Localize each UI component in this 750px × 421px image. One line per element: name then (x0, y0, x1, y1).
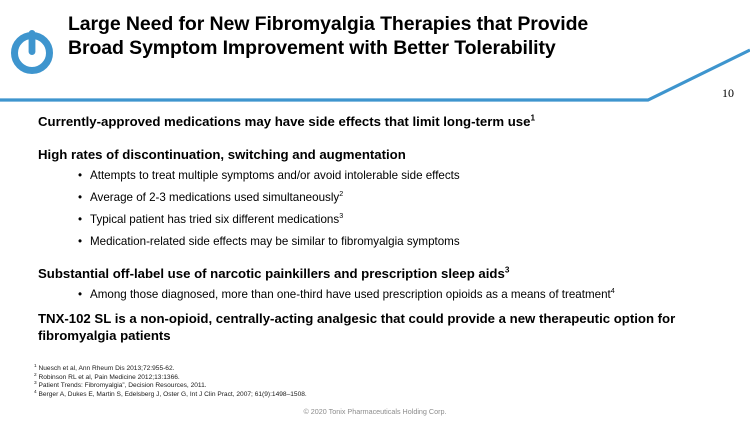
body-heading-3-footnote-marker: 3 (505, 266, 510, 275)
footnote-list: 1 Nuesch et al, Ann Rheum Dis 2013;72:95… (34, 365, 307, 399)
bullet-point-icon: • (78, 288, 82, 302)
body-heading-3: Substantial off-label use of narcotic pa… (38, 266, 750, 282)
bullet-point-icon: • (78, 235, 82, 249)
bullet-footnote-marker: 3 (339, 211, 343, 220)
bullet-point-icon: • (78, 191, 82, 205)
bullet-list-item: •Average of 2-3 medications used simulta… (78, 191, 690, 205)
body-heading-2: High rates of discontinuation, switching… (38, 147, 750, 163)
bullet-list-item: •Typical patient has tried six different… (78, 213, 690, 227)
bullet-list-primary: •Attempts to treat multiple symptoms and… (0, 169, 750, 249)
footnote-text: Robinson RL et al, Pain Medicine 2012;13… (37, 374, 180, 381)
page-number: 10 (722, 86, 734, 101)
bullet-text: Typical patient has tried six different … (90, 213, 339, 226)
bullet-list-item: •Medication-related side effects may be … (78, 235, 690, 249)
body-heading-1: Currently-approved medications may have … (38, 114, 750, 130)
body-heading-3-text: Substantial off-label use of narcotic pa… (38, 266, 505, 281)
footnote-text: Patient Trends: Fibromyalgia”, Decision … (37, 382, 207, 389)
slide: Large Need for New Fibromyalgia Therapie… (0, 0, 750, 421)
body-heading-1-text: Currently-approved medications may have … (38, 114, 530, 129)
bullet-text: Medication-related side effects may be s… (90, 235, 460, 248)
copyright-notice: © 2020 Tonix Pharmaceuticals Holding Cor… (0, 407, 750, 416)
bullet-text: Attempts to treat multiple symptoms and/… (90, 169, 460, 182)
page-title: Large Need for New Fibromyalgia Therapie… (68, 12, 628, 60)
bullet-list-item: •Attempts to treat multiple symptoms and… (78, 169, 690, 183)
bullet-list-secondary: •Among those diagnosed, more than one-th… (0, 288, 750, 302)
footnote-item: 1 Nuesch et al, Ann Rheum Dis 2013;72:95… (34, 365, 307, 374)
power-button-logo-icon (6, 24, 58, 76)
footnote-item: 3 Patient Trends: Fibromyalgia”, Decisio… (34, 382, 307, 391)
footnote-item: 2 Robinson RL et al, Pain Medicine 2012;… (34, 374, 307, 383)
slide-body: Currently-approved medications may have … (0, 108, 750, 344)
footnote-item: 4 Berger A, Dukes E, Martin S, Edelsberg… (34, 391, 307, 400)
closing-statement: TNX-102 SL is a non-opioid, centrally-ac… (38, 311, 698, 344)
bullet-footnote-marker: 2 (339, 189, 343, 198)
bullet-text: Average of 2-3 medications used simultan… (90, 191, 339, 204)
bullet-point-icon: • (78, 169, 82, 183)
body-heading-1-footnote-marker: 1 (530, 114, 535, 123)
footnote-text: Berger A, Dukes E, Martin S, Edelsberg J… (37, 391, 307, 398)
bullet-footnote-marker: 4 (611, 286, 615, 295)
bullet-text: Among those diagnosed, more than one-thi… (90, 288, 611, 301)
bullet-list-item: •Among those diagnosed, more than one-th… (78, 288, 690, 302)
bullet-point-icon: • (78, 213, 82, 227)
footnote-text: Nuesch et al, Ann Rheum Dis 2013;72:955-… (37, 365, 175, 372)
